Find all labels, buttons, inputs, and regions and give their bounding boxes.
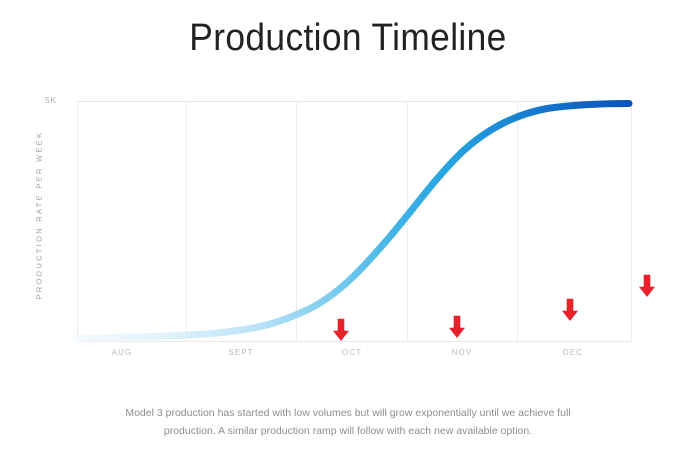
x-axis-label-aug: AUG [112,348,133,357]
milestone-arrow-4 [636,272,658,300]
milestone-arrow-3 [559,296,581,324]
y-axis-title: PRODUCTION RATE PER WEEK [35,140,44,300]
x-axis-label-dec: DEC [563,348,583,357]
milestone-arrow-2 [446,313,468,341]
page-title: Production Timeline [24,17,671,60]
down-arrow-icon [559,296,581,324]
chart-caption: Model 3 production has started with low … [98,404,598,440]
x-axis-labels: AUG SEPT OCT NOV DEC [77,348,632,362]
x-axis-label-oct: OCT [342,348,362,357]
x-axis-label-nov: NOV [452,348,473,357]
production-curve [77,101,632,342]
down-arrow-icon [446,313,468,341]
milestone-arrow-1 [330,316,352,344]
slide-root: Production Timeline 5K PRODUCTION RATE P… [0,0,696,453]
down-arrow-icon [636,272,658,300]
x-axis-label-sept: SEPT [228,348,253,357]
down-arrow-icon [330,316,352,344]
chart-plot-area [77,101,632,342]
y-axis-max-tick-label: 5K [45,95,57,105]
